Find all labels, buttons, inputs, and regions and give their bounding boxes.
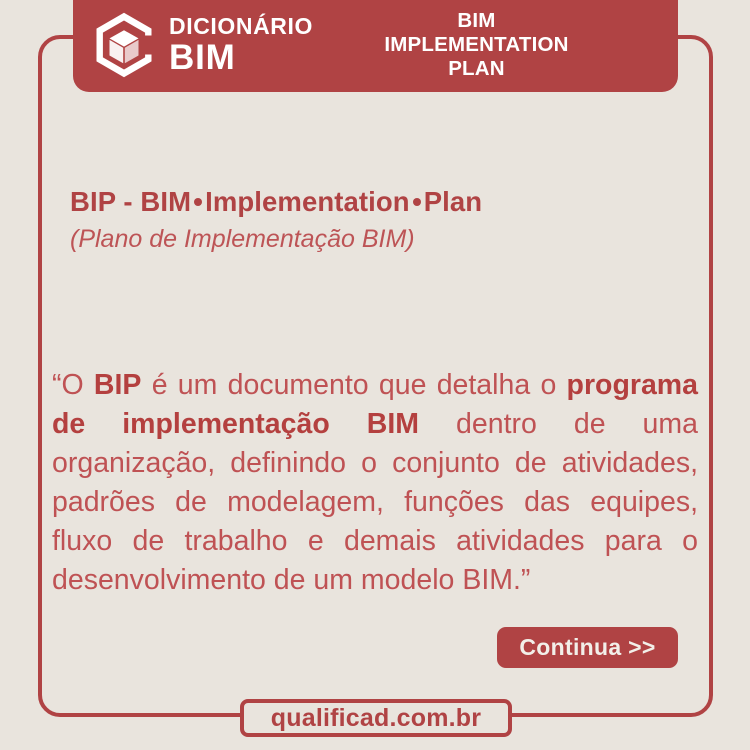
definition-open-quote: “O: [52, 369, 94, 401]
header-inner: DICIONÁRIO BIM BIM IMPLEMENTATION PLAN: [73, 6, 678, 84]
term-title: BIP - BIMImplementationPlan: [70, 186, 690, 218]
term-subtitle: (Plano de Implementação BIM): [70, 224, 690, 254]
term-title-part-1: BIP - BIM: [70, 186, 191, 217]
site-badge[interactable]: qualificad.com.br: [240, 699, 512, 737]
site-badge-label: qualificad.com.br: [271, 706, 481, 731]
definition-text-1: é um documento que detalha o: [141, 369, 566, 401]
header-bar: DICIONÁRIO BIM BIM IMPLEMENTATION PLAN: [73, 0, 678, 92]
definition-paragraph: “O BIP é um documento que detalha o prog…: [52, 366, 698, 600]
brand-text: DICIONÁRIO BIM: [169, 15, 313, 75]
header-topic-line-1: BIM: [323, 9, 630, 33]
bullet-separator-icon: [413, 198, 421, 206]
brand-line-dicionario: DICIONÁRIO: [169, 15, 313, 38]
bim-cube-hexagon-icon: [93, 11, 155, 79]
header-topic-title: BIM IMPLEMENTATION PLAN: [313, 9, 678, 80]
term-block: BIP - BIMImplementationPlan (Plano de Im…: [70, 186, 690, 254]
brand-line-bim: BIM: [169, 40, 313, 75]
definition-bold-bip: BIP: [94, 369, 142, 401]
continue-button[interactable]: Continua >>: [497, 627, 678, 668]
term-title-part-3: Plan: [424, 186, 482, 217]
header-topic-line-3: PLAN: [323, 57, 630, 81]
brand-block: DICIONÁRIO BIM: [93, 11, 313, 79]
header-topic-line-2: IMPLEMENTATION: [323, 33, 630, 57]
term-title-part-2: Implementation: [205, 186, 410, 217]
bullet-separator-icon: [194, 198, 202, 206]
